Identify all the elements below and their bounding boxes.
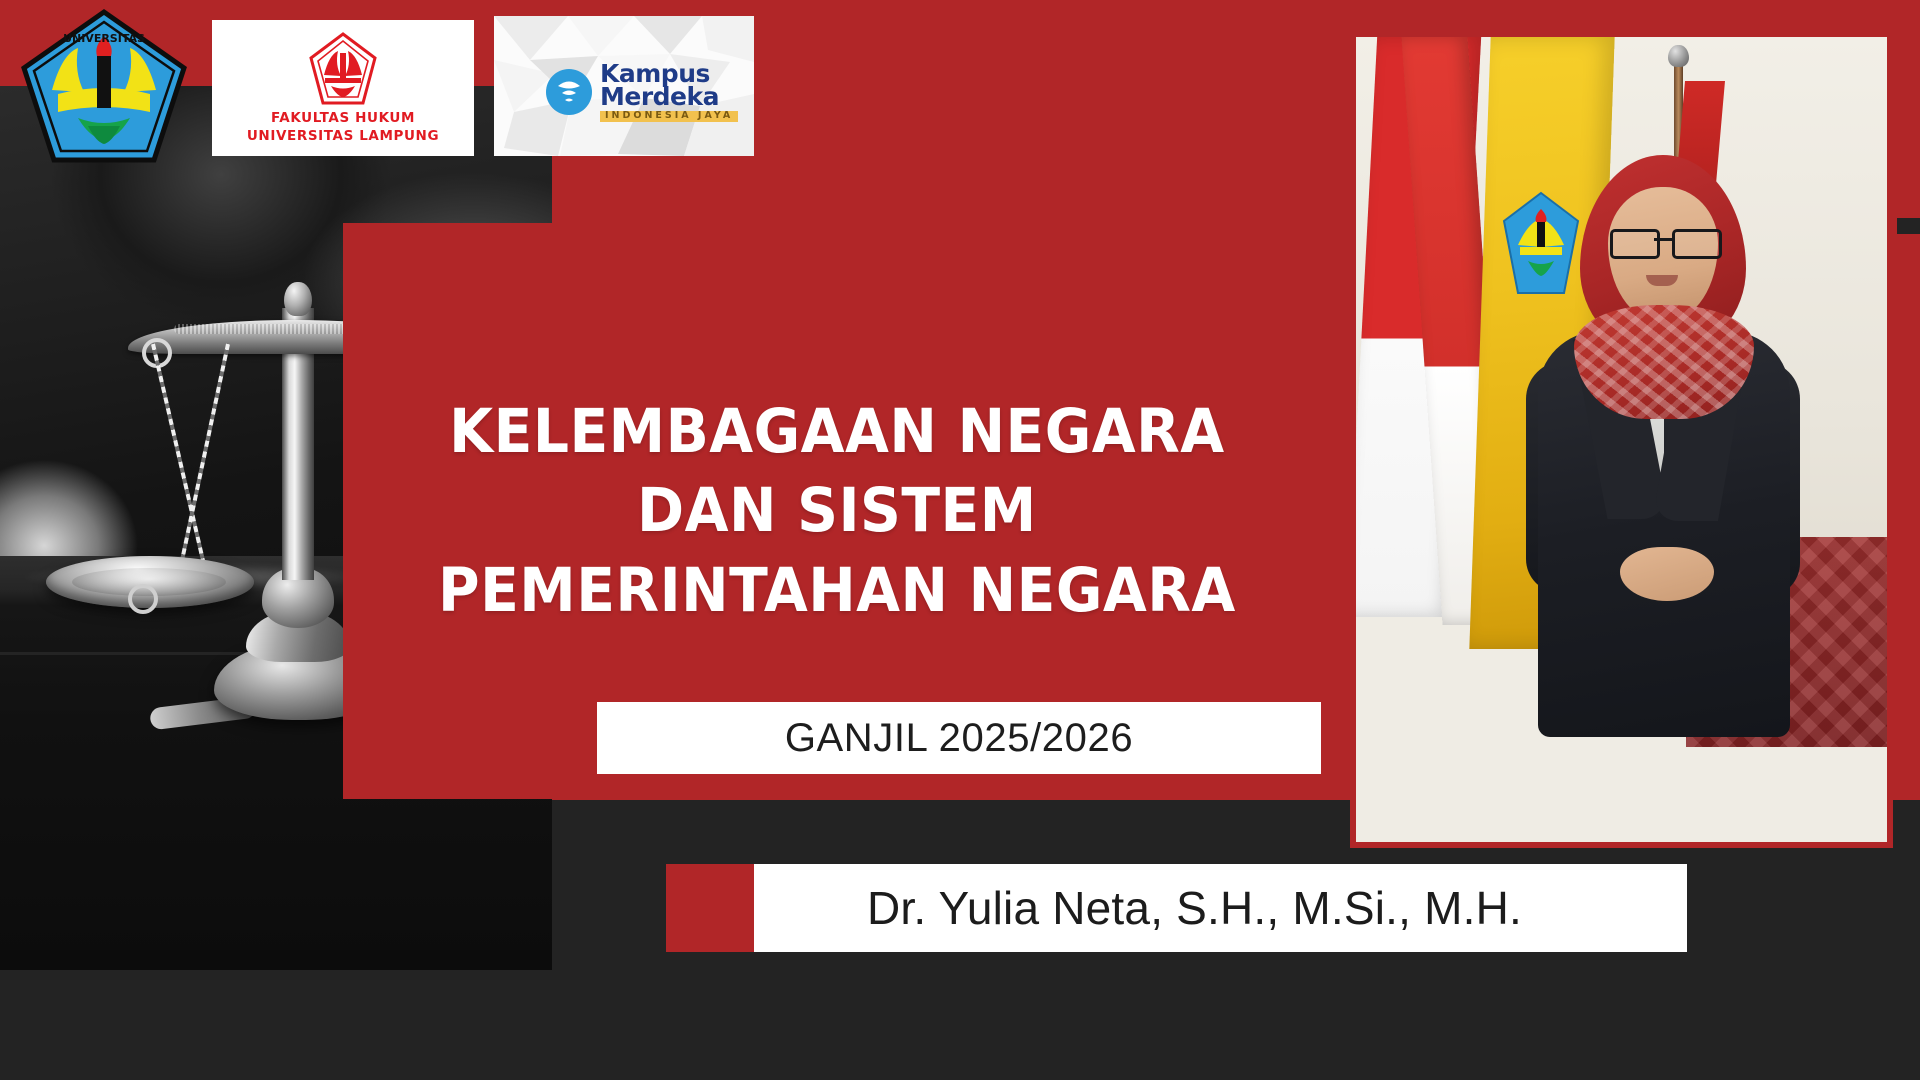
unila-seal-logo: UNIVERSITAS	[18, 8, 190, 166]
right-red-band	[1893, 0, 1920, 848]
slide-title-line-1: KELEMBAGAAN NEGARA	[449, 392, 1224, 471]
kampus-merdeka-wordmark: Kampus Merdeka INDONESIA JAYA	[600, 62, 738, 122]
slide-title-line-2: DAN SISTEM	[637, 471, 1037, 550]
name-bar-plate: Dr. Yulia Neta, S.H., M.Si., M.H.	[754, 864, 1687, 952]
svg-text:UNIVERSITAS: UNIVERSITAS	[63, 32, 145, 45]
academic-term-label: GANJIL 2025/2026	[785, 716, 1133, 761]
speaker-name-bar: Dr. Yulia Neta, S.H., M.Si., M.H.	[666, 864, 1687, 952]
speaker-figure	[1516, 155, 1806, 737]
glasses-lens-right	[1672, 229, 1722, 259]
title-slide: UNIVERSITAS FAKULTAS HUKUM UNIVERSITAS L…	[0, 0, 1920, 1080]
fh-logo-line2: UNIVERSITAS LAMPUNG	[247, 128, 439, 145]
speaker-photo	[1356, 37, 1887, 842]
fakultas-hukum-logo: FAKULTAS HUKUM UNIVERSITAS LAMPUNG	[212, 20, 474, 156]
kampus-merdeka-tagline: INDONESIA JAYA	[600, 111, 738, 122]
academic-term-box: GANJIL 2025/2026	[597, 702, 1321, 774]
kampus-merdeka-lockup: Kampus Merdeka INDONESIA JAYA	[546, 62, 738, 122]
slide-title-line-3: PEMERINTAHAN NEGARA	[438, 551, 1236, 630]
speaker-scarf	[1574, 305, 1754, 419]
tut-wuri-handayani-icon	[546, 69, 592, 115]
name-bar-accent	[666, 864, 754, 952]
glasses-bridge	[1654, 238, 1672, 241]
scale-ring-bottom	[128, 584, 158, 614]
right-dark-band	[1893, 848, 1920, 1080]
right-dark-tab	[1897, 218, 1920, 234]
flagpole-finial	[1668, 45, 1689, 67]
merdeka-word: Merdeka	[600, 85, 738, 108]
speaker-name-label: Dr. Yulia Neta, S.H., M.Si., M.H.	[867, 881, 1522, 935]
glasses-lens-left	[1610, 229, 1660, 259]
speaker-glasses	[1608, 229, 1720, 253]
speaker-photo-frame	[1350, 31, 1893, 848]
scale-finial	[284, 282, 312, 316]
kampus-merdeka-logo: Kampus Merdeka INDONESIA JAYA	[494, 16, 754, 156]
fh-logo-line1: FAKULTAS HUKUM	[271, 110, 415, 127]
